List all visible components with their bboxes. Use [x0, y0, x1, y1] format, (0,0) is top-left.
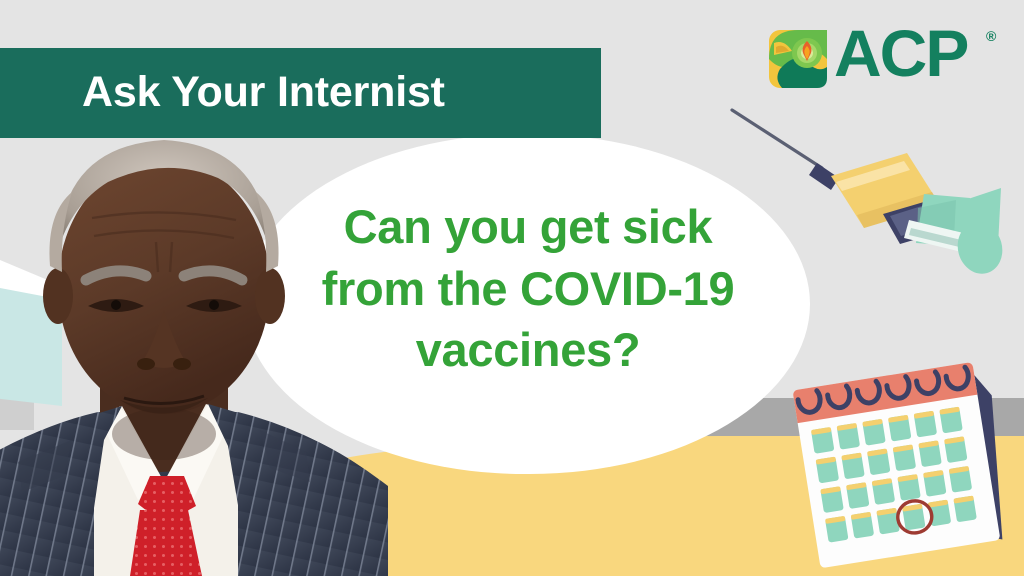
internist-portrait [0, 110, 458, 576]
syringe-illustration [718, 96, 1018, 286]
acp-wordmark: ACP [834, 20, 967, 86]
acp-logo[interactable]: ACP ® [768, 26, 1006, 92]
banner-title-text: Ask Your Internist [82, 68, 445, 117]
acp-flame-emblem-icon [768, 29, 828, 89]
syringe-needle-icon [732, 110, 822, 168]
acp-registered-mark: ® [986, 28, 996, 44]
portrait-chin-shading [112, 408, 216, 460]
calendar-illustration [784, 358, 1024, 576]
video-thumbnail: Can you get sick from the COVID-19 vacci… [0, 0, 1024, 576]
